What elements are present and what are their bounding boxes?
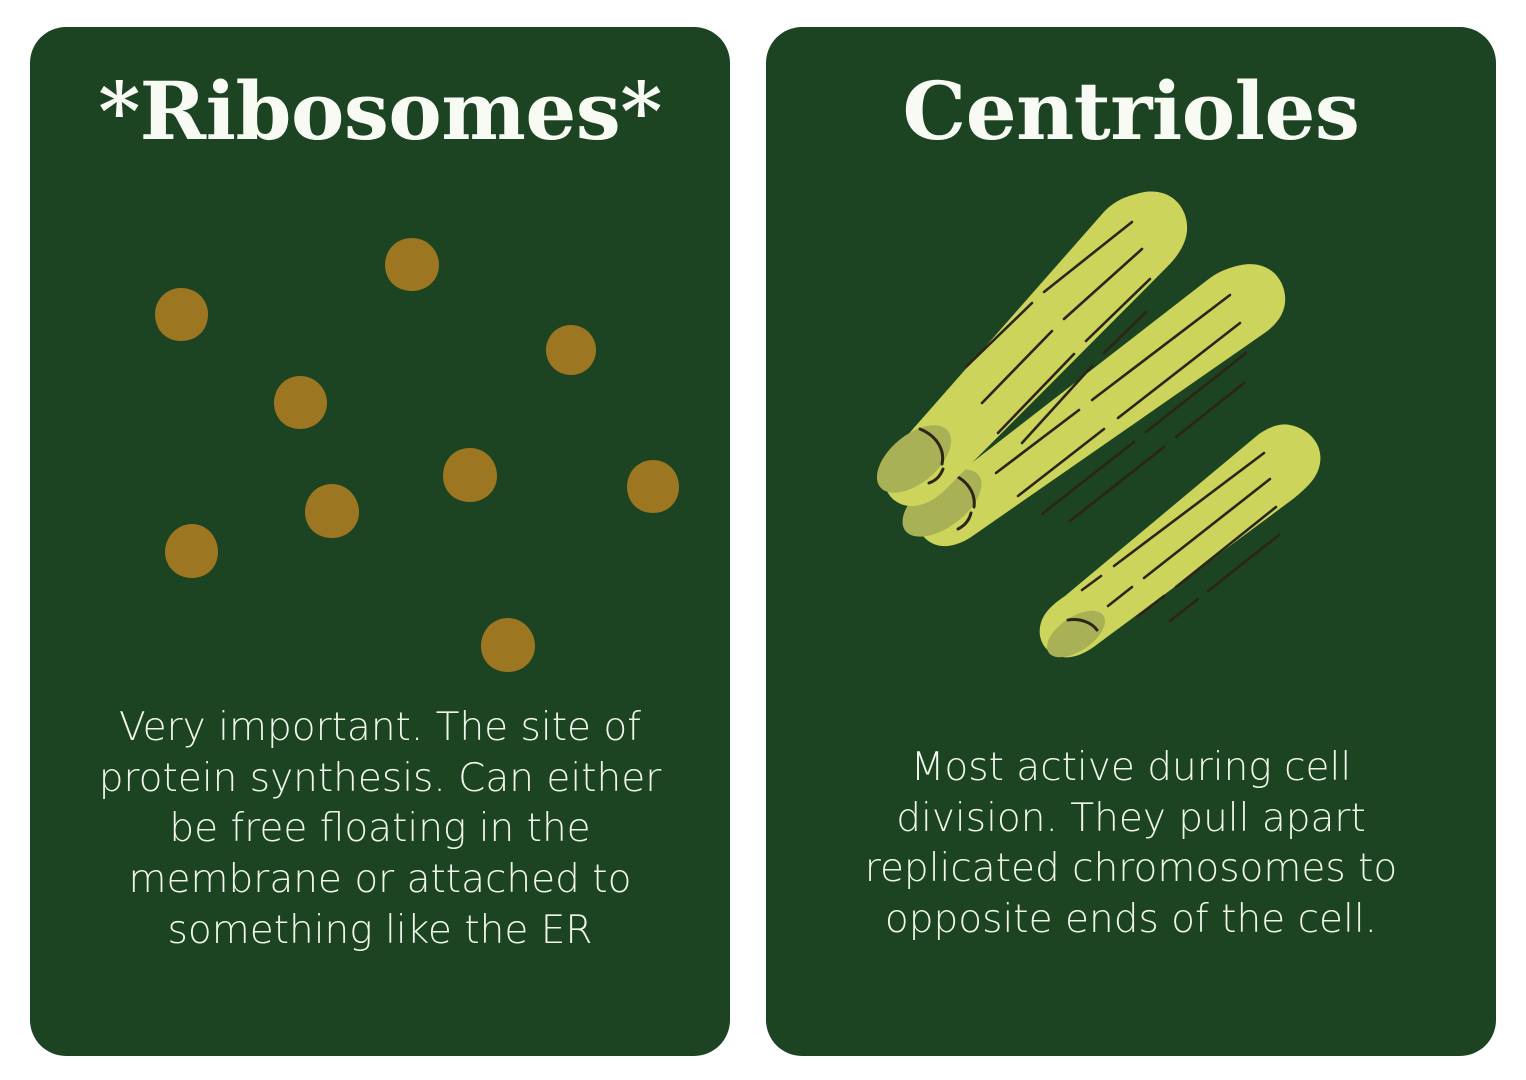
centriole-tube-bottom	[1039, 424, 1320, 666]
ribosome-dot	[305, 484, 359, 538]
flashcard-board: *Ribosomes* Very important. The site of …	[0, 0, 1526, 1080]
ribosome-dots-illustration	[30, 27, 730, 687]
ribosome-dot-group	[155, 238, 679, 672]
ribosome-dot	[385, 238, 439, 291]
ribosome-dot	[155, 288, 208, 341]
ribosome-dot	[546, 325, 596, 375]
card-body-centrioles: Most active during cell division. They p…	[836, 743, 1426, 946]
centriole-tubes-illustration	[846, 177, 1366, 667]
ribosome-dot	[165, 524, 218, 578]
ribosome-dot	[481, 618, 535, 672]
card-title-centrioles: Centrioles	[766, 71, 1496, 151]
flashcard-ribosomes[interactable]: *Ribosomes* Very important. The site of …	[30, 27, 730, 1056]
ribosome-dot	[443, 448, 497, 502]
flashcard-centrioles[interactable]: Centrioles	[766, 27, 1496, 1056]
ribosome-dot	[627, 460, 679, 513]
card-body-ribosomes: Very important. The site of protein synt…	[82, 703, 678, 956]
ribosome-dot	[274, 376, 327, 429]
